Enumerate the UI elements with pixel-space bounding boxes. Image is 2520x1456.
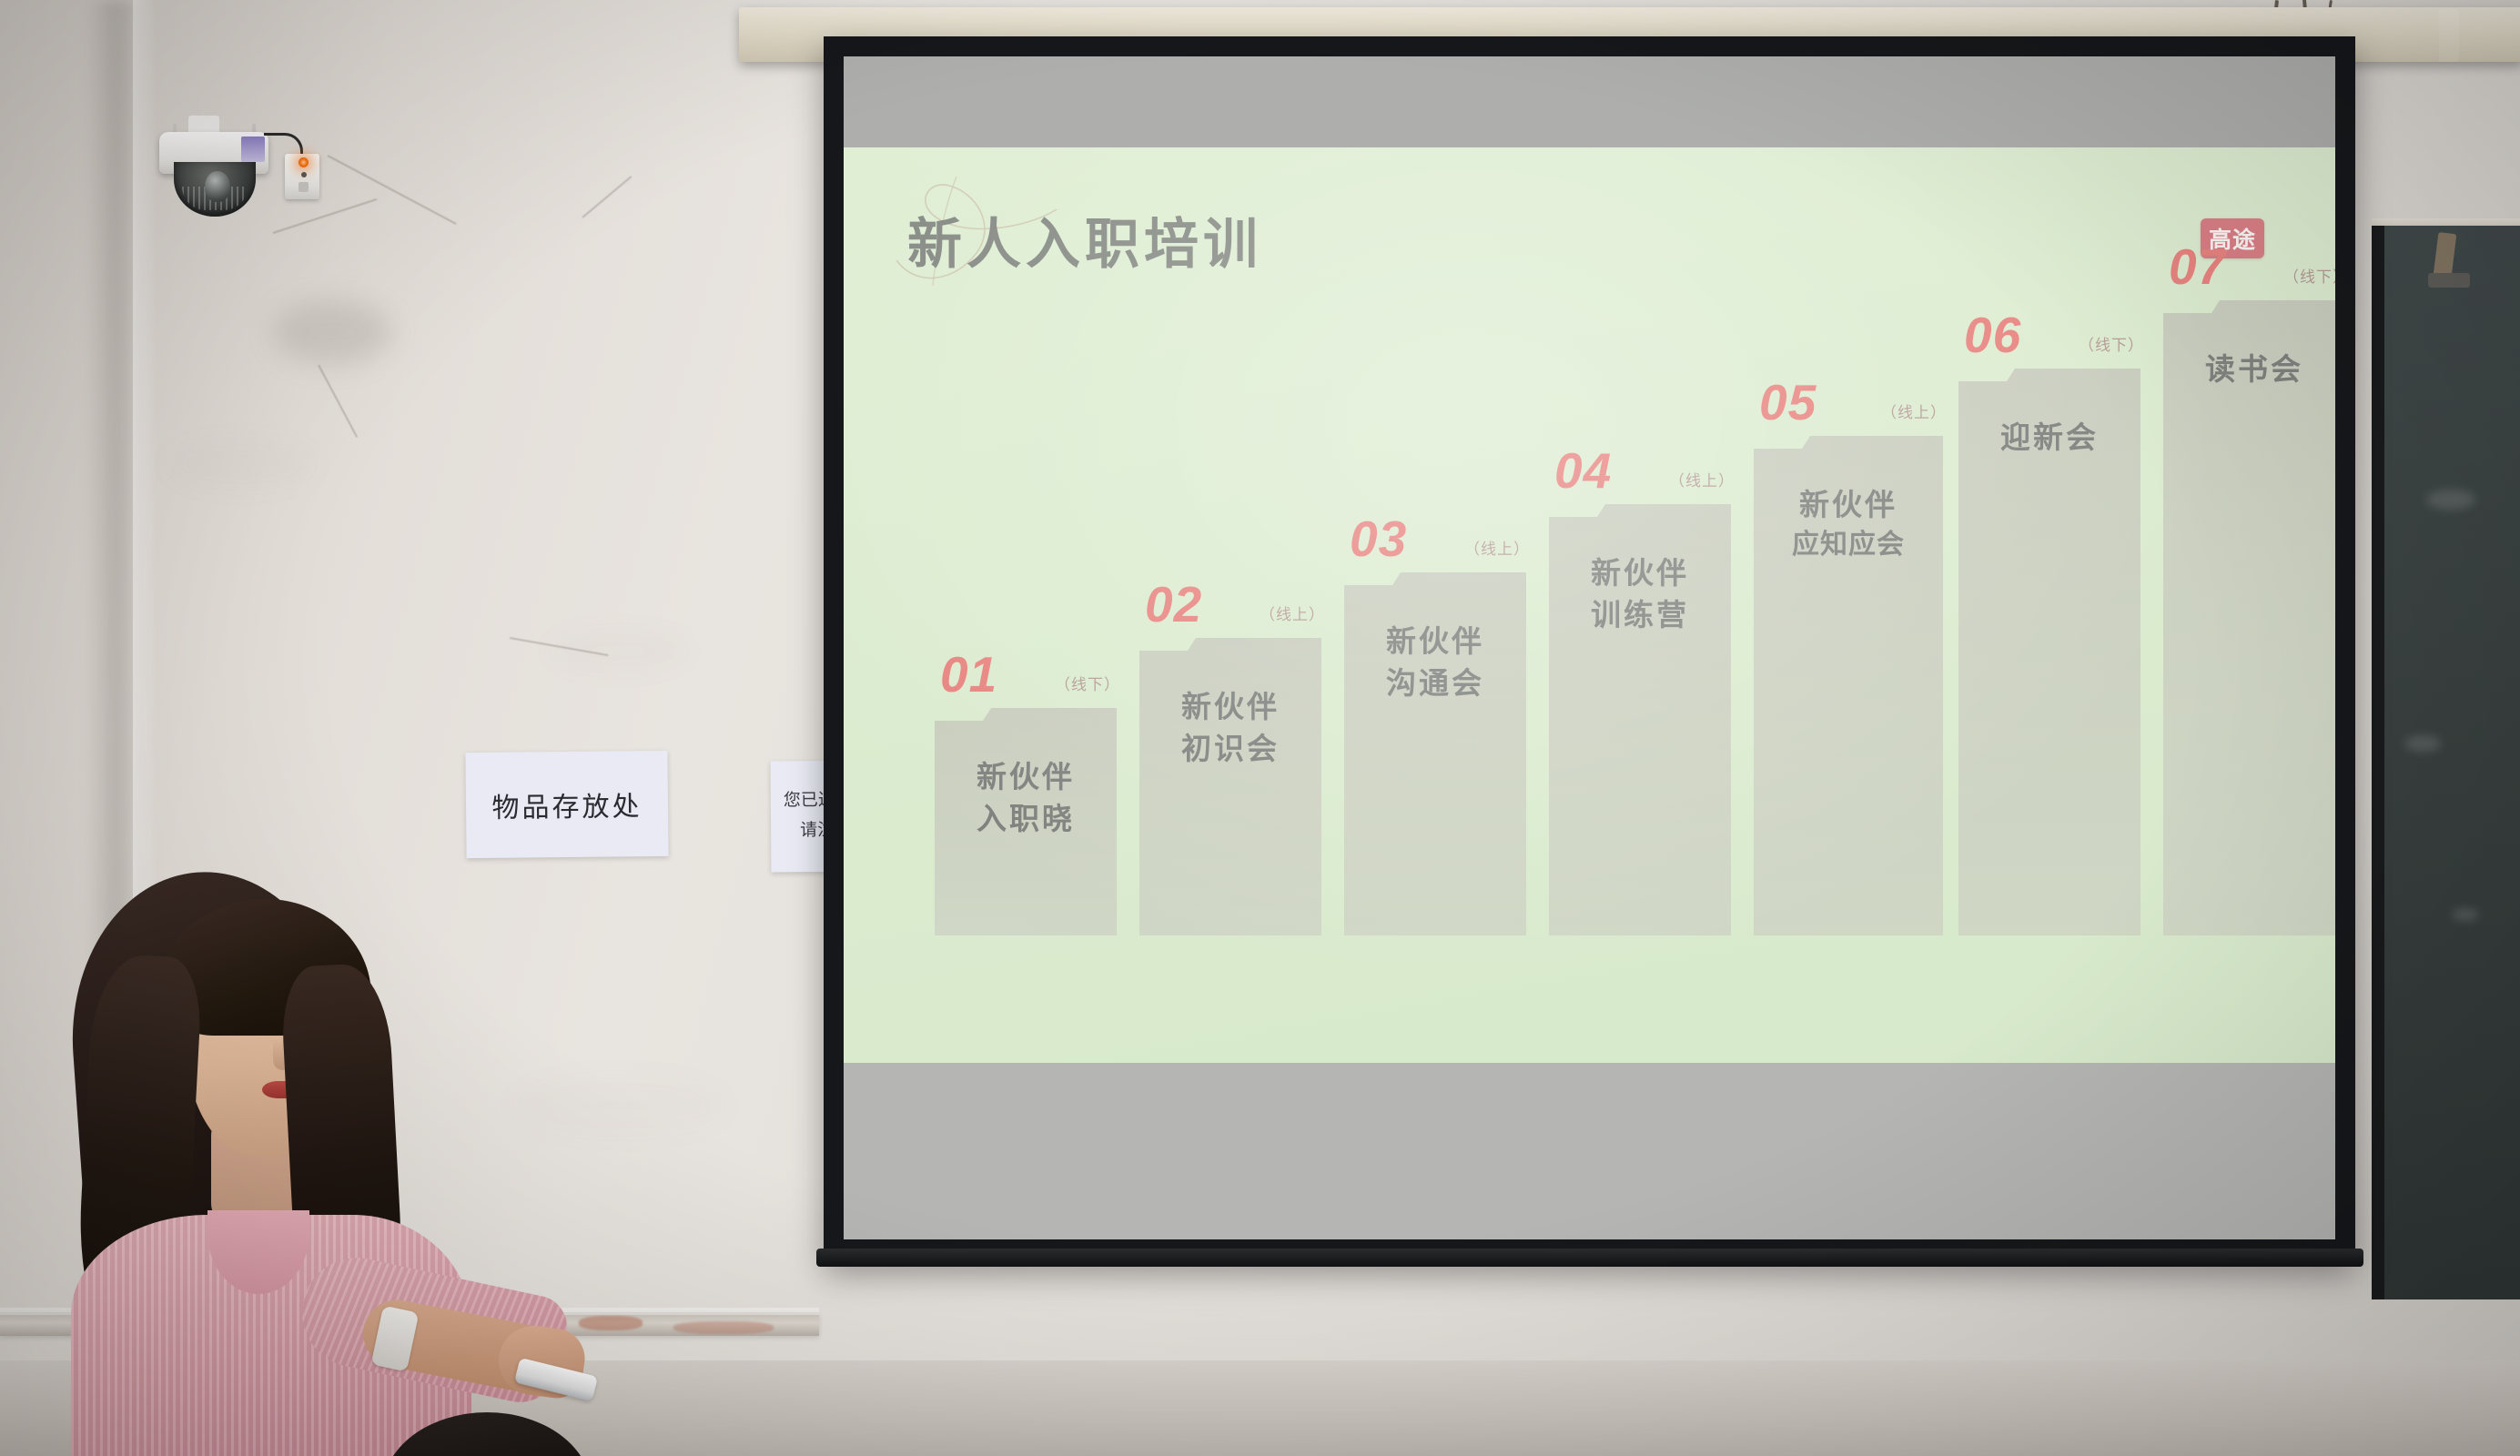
camera-lens (205, 171, 230, 202)
step-folder-shape: 迎新会 (1958, 369, 2140, 935)
chalk-smudge (2426, 490, 2475, 510)
wall-smudge (273, 300, 391, 364)
projection-screen-surface: 新人入职培训 高途 01 （线下） 新伙伴 入职晓 (844, 56, 2335, 1239)
step-mode-label: （线下） (1055, 672, 1120, 694)
projection-screen-frame: 新人入职培训 高途 01 （线下） 新伙伴 入职晓 (824, 36, 2355, 1259)
paint-chip (673, 1321, 774, 1334)
chalk-smudge (2404, 735, 2441, 752)
slide-letterbox-top (844, 56, 2335, 147)
wall-smudge (164, 437, 319, 491)
step-folder-shape: 新伙伴 应知应会 (1754, 436, 1943, 935)
step-label-line: 入职晓 (977, 801, 1075, 837)
step-number: 04 (1554, 446, 1612, 496)
step-mode-label: （线下） (2079, 332, 2144, 355)
step-number: 06 (1964, 310, 2021, 360)
projector-screen-end-cap (2439, 9, 2459, 62)
step-card-04[interactable]: 04 （线上） 新伙伴 训练营 (1549, 504, 1731, 935)
step-folder-shape: 新伙伴 入职晓 (935, 708, 1117, 935)
presenter (0, 846, 582, 1456)
step-mode-label: （线上） (1881, 399, 1947, 422)
step-folder-shape: 新伙伴 训练营 (1549, 504, 1731, 935)
blackboard (2372, 226, 2520, 1299)
blackboard-hook-bracket (2428, 273, 2470, 288)
step-number: 05 (1759, 378, 1817, 428)
step-mode-label: （线上） (1464, 536, 1530, 559)
classroom-photo: 物品存放处 您已进 请注 ✦ Redleaf (0, 0, 2520, 1456)
step-card-05[interactable]: 05 （线上） 新伙伴 应知应会 (1754, 436, 1943, 935)
step-label-line: 应知应会 (1792, 529, 1905, 562)
wall-smudge (546, 628, 692, 673)
step-mode-label: （线上） (1260, 602, 1325, 624)
step-number: 03 (1350, 514, 1407, 564)
step-label-line: 初识会 (1181, 731, 1280, 767)
sensor-button-icon[interactable] (299, 182, 309, 192)
step-label-line: 训练营 (1591, 597, 1689, 633)
step-label-line: 迎新会 (2000, 420, 2099, 456)
step-folder-shape: 新伙伴 沟通会 (1344, 572, 1526, 935)
camera-label-sticker (241, 136, 265, 162)
sensor-dot-icon (301, 172, 307, 177)
step-mode-label: （线上） (1669, 468, 1735, 490)
sign-storage: 物品存放处 (465, 751, 668, 858)
step-card-07[interactable]: 07 （线下） 读书会 (2163, 300, 2335, 935)
step-label-line: 新伙伴 (1799, 487, 1898, 523)
step-card-06[interactable]: 06 （线下） 迎新会 (1958, 369, 2140, 935)
step-number: 02 (1145, 580, 1202, 630)
step-number: 07 (2169, 242, 2226, 292)
step-label-line: 新伙伴 (1386, 623, 1484, 660)
chalk-smudge (2452, 908, 2479, 921)
step-folder-shape: 读书会 (2163, 300, 2335, 935)
projection-screen-bottom-bar (816, 1249, 2363, 1267)
step-card-01[interactable]: 01 （线下） 新伙伴 入职晓 (935, 708, 1117, 935)
step-card-03[interactable]: 03 （线上） 新伙伴 沟通会 (1344, 572, 1526, 935)
step-label-line: 读书会 (2205, 351, 2303, 388)
step-number: 01 (940, 650, 997, 700)
step-staircase: 01 （线下） 新伙伴 入职晓 02 （线上） (844, 147, 2335, 1063)
step-card-02[interactable]: 02 （线上） 新伙伴 初识会 (1139, 638, 1321, 935)
step-label-line: 沟通会 (1386, 665, 1484, 702)
presentation-slide: 新人入职培训 高途 01 （线下） 新伙伴 入职晓 (844, 147, 2335, 1063)
step-mode-label: （线下） (2283, 264, 2335, 287)
step-label-line: 新伙伴 (1591, 555, 1689, 591)
sensor-led-indicator (299, 157, 309, 167)
step-label-line: 新伙伴 (977, 759, 1075, 795)
step-folder-shape: 新伙伴 初识会 (1139, 638, 1321, 935)
paint-chip (579, 1316, 643, 1330)
step-label-line: 新伙伴 (1181, 689, 1280, 725)
